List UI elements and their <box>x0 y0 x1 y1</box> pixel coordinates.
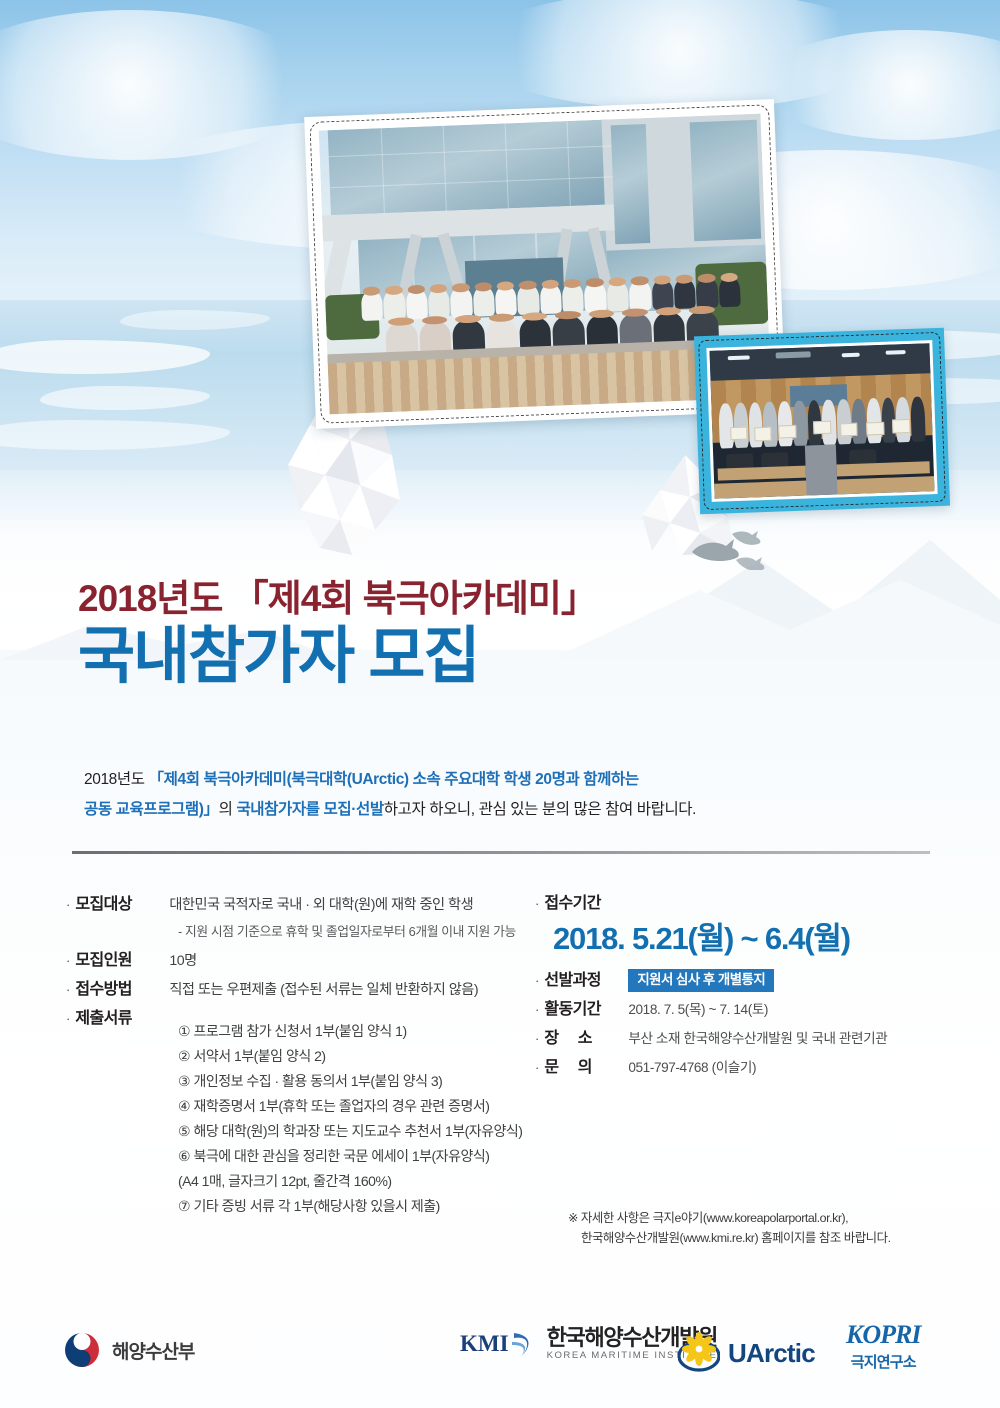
label-selection: 선발과정 <box>544 970 628 992</box>
list-item: ② 서약서 1부(붙임 양식 2) <box>178 1044 536 1069</box>
poster-root: 2018년도 「제4회 북극아카데미」 국내참가자 모집 2018년도 「제4회… <box>0 0 1000 1408</box>
list-item: (A4 1매, 글자크기 12pt, 줄간격 160%) <box>178 1169 536 1194</box>
subtitle-seg-joint: 공동 교육프로그램)」 <box>84 801 219 818</box>
footnote-line-1: ※ 자세한 사항은 극지e야기(www.koreapolarportal.or.… <box>568 1208 968 1228</box>
list-item: ④ 재학증명서 1부(휴학 또는 졸업자의 경우 관련 증명서) <box>178 1094 536 1119</box>
label-application-period: 접수기간 <box>544 893 600 915</box>
kmi-swoosh-icon <box>511 1329 537 1359</box>
taegeuk-icon <box>62 1330 102 1370</box>
subtitle-seg-ui: 의 <box>219 801 237 818</box>
bullet-icon: · <box>535 971 539 991</box>
value-target: 대한민국 국적자로 국내 · 외 대학(원)에 재학 중인 학생 <box>169 895 473 915</box>
label-contact: 문 의 <box>544 1057 628 1079</box>
list-item: ⑦ 기타 증빙 서류 각 1부(해당사항 있을시 제출) <box>178 1194 536 1219</box>
ice-floe <box>0 340 210 374</box>
poster-title-line1: 2018년도 「제4회 북극아카데미」 <box>78 578 938 621</box>
subtitle-seg-year: 2018년도 <box>84 771 149 788</box>
label-place: 장 소 <box>544 1028 628 1050</box>
list-item: ① 프로그램 참가 신청서 1부(붙임 양식 1) <box>178 1019 536 1044</box>
uarctic-sun-icon <box>678 1332 720 1374</box>
bullet-icon: · <box>535 894 539 914</box>
right-info-column: · 접수기간 2018. 5.21(월) ~ 6.4(월) · 선발과정 지원서… <box>535 893 955 1086</box>
bullet-icon: · <box>66 895 70 915</box>
bullet-icon: · <box>66 980 70 1000</box>
value-place: 부산 소재 한국해양수산개발원 및 국내 관련기관 <box>628 1028 887 1050</box>
logo-uarctic: UArctic <box>678 1332 815 1374</box>
label-quota: 모집인원 <box>75 951 161 971</box>
section-divider <box>72 851 930 854</box>
list-item: ⑤ 해당 대학(원)의 학과장 또는 지도교수 추천서 1부(자유양식) <box>178 1119 536 1144</box>
info-row-contact: · 문 의 051-797-4768 (이슬기) <box>535 1057 955 1079</box>
bullet-icon: · <box>66 1009 70 1029</box>
kopri-korean-label: 극지연구소 <box>846 1351 920 1372</box>
label-documents: 제출서류 <box>75 1009 161 1029</box>
list-item: ③ 개인정보 수집 · 활용 동의서 1부(붙임 양식 3) <box>178 1069 536 1094</box>
photo-content <box>706 340 937 502</box>
info-row-application-period: · 접수기간 <box>535 893 955 915</box>
value-application-period: 2018. 5.21(월) ~ 6.4(월) <box>553 922 955 956</box>
logo-ministry-of-oceans-fisheries: 해양수산부 <box>62 1330 194 1370</box>
subtitle-block: 2018년도 「제4회 북극아카데미(북극대학(UArctic) 소속 주요대학… <box>84 765 944 825</box>
bullet-icon: · <box>535 1058 539 1078</box>
document-list: ① 프로그램 참가 신청서 1부(붙임 양식 1) ② 서약서 1부(붙임 양식… <box>178 1019 536 1219</box>
kmi-mark-label: KMI <box>460 1331 509 1357</box>
note-target-eligibility: - 지원 시점 기준으로 휴학 및 졸업일자로부터 6개월 이내 지원 가능 <box>178 922 536 942</box>
logo-kopri: KOPRI 극지연구소 <box>846 1322 920 1372</box>
label-method: 접수방법 <box>75 980 161 1000</box>
logo-ministry-label: 해양수산부 <box>112 1337 194 1364</box>
ice-floe <box>40 386 210 410</box>
info-row-method: · 접수방법 직접 또는 우편제출 (접수된 서류는 일체 반환하지 않음) <box>66 980 536 1000</box>
uarctic-label: UArctic <box>728 1338 815 1369</box>
whale-silhouette-icon <box>690 530 770 570</box>
ice-floe <box>120 310 270 330</box>
title-block: 2018년도 「제4회 북극아카데미」 국내참가자 모집 <box>78 578 938 691</box>
info-row-quota: · 모집인원 10명 <box>66 951 536 971</box>
status-badge-selection: 지원서 심사 후 개별통지 <box>628 969 774 992</box>
value-method: 직접 또는 우편제출 (접수된 서류는 일체 반환하지 않음) <box>169 980 478 1000</box>
footnote-block: ※ 자세한 사항은 극지e야기(www.koreapolarportal.or.… <box>568 1208 968 1249</box>
footer-logos: 해양수산부 KMI 한국해양수산개발원 KOREA MARITIME INSTI… <box>0 1312 1000 1408</box>
subtitle-line-2: 공동 교육프로그램)」의 국내참가자를 모집·선발하고자 하오니, 관심 있는 … <box>84 795 944 825</box>
subtitle-seg-program: 「제4회 북극아카데미(북극대학(UArctic) 소속 주요대학 학생 20명… <box>149 771 639 788</box>
poster-title-line2: 국내참가자 모집 <box>78 623 938 691</box>
subtitle-line-1: 2018년도 「제4회 북극아카데미(북극대학(UArctic) 소속 주요대학… <box>84 765 944 795</box>
list-item: ⑥ 북극에 대한 관심을 정리한 국문 에세이 1부(자유양식) <box>178 1144 536 1169</box>
value-quota: 10명 <box>169 951 196 971</box>
footnote-line-2: 한국해양수산개발원(www.kmi.re.kr) 홈페이지를 참조 바랍니다. <box>568 1228 968 1248</box>
info-row-place: · 장 소 부산 소재 한국해양수산개발원 및 국내 관련기관 <box>535 1028 955 1050</box>
subtitle-seg-recruit: 국내참가자를 모집·선발 <box>236 801 383 818</box>
info-row-activity-period: · 활동기간 2018. 7. 5(목) ~ 7. 14(토) <box>535 999 955 1021</box>
bullet-icon: · <box>66 951 70 971</box>
subtitle-seg-tail: 하고자 하오니, 관심 있는 분의 많은 참여 바랍니다. <box>384 801 696 818</box>
info-row-selection: · 선발과정 지원서 심사 후 개별통지 <box>535 969 955 992</box>
label-target: 모집대상 <box>75 895 161 915</box>
value-activity-period: 2018. 7. 5(목) ~ 7. 14(토) <box>628 999 768 1021</box>
left-info-column: · 모집대상 대한민국 국적자로 국내 · 외 대학(원)에 재학 중인 학생 … <box>66 895 536 1219</box>
certificate-ceremony-photo <box>694 328 950 515</box>
info-row-target: · 모집대상 대한민국 국적자로 국내 · 외 대학(원)에 재학 중인 학생 <box>66 895 536 915</box>
bullet-icon: · <box>535 1029 539 1049</box>
label-activity-period: 활동기간 <box>544 999 628 1021</box>
kopri-mark-label: KOPRI <box>846 1322 920 1348</box>
value-contact: 051-797-4768 (이슬기) <box>628 1057 756 1079</box>
bullet-icon: · <box>535 1000 539 1020</box>
